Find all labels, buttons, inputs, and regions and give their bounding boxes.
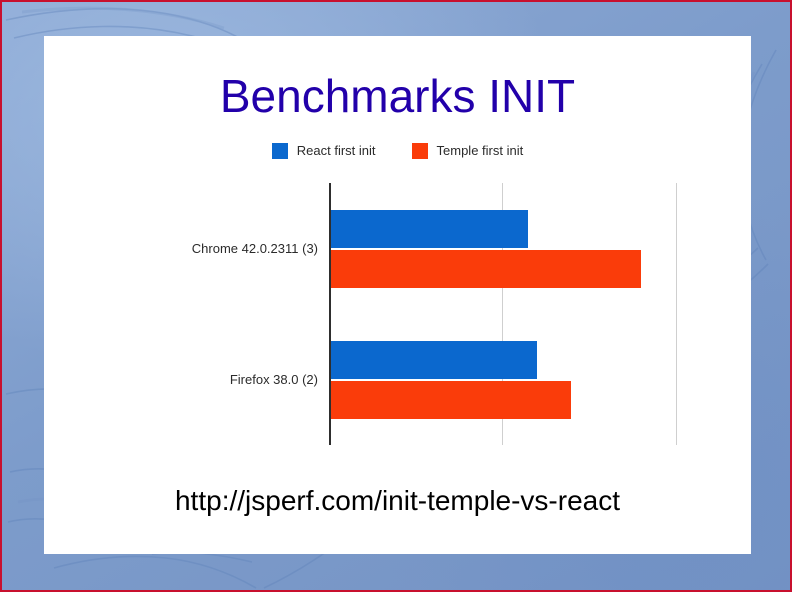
category-label-firefox: Firefox 38.0 (2) (230, 372, 318, 387)
chart-category-labels: Chrome 42.0.2311 (3) Firefox 38.0 (2) (44, 183, 318, 445)
bar-chrome-temple (331, 250, 641, 288)
chart-gridline-2 (676, 183, 677, 445)
slide-frame: Benchmarks INIT React first init Temple … (0, 0, 792, 592)
bar-firefox-temple (331, 381, 572, 419)
footer-source-url: http://jsperf.com/init-temple-vs-react (44, 484, 751, 518)
bar-chrome-react (331, 210, 529, 248)
chart-plot-area (329, 183, 686, 445)
bar-chart: Chrome 42.0.2311 (3) Firefox 38.0 (2) (44, 36, 751, 554)
bar-firefox-react (331, 341, 537, 379)
category-label-chrome: Chrome 42.0.2311 (3) (192, 241, 318, 256)
slide-content-card: Benchmarks INIT React first init Temple … (44, 36, 751, 554)
